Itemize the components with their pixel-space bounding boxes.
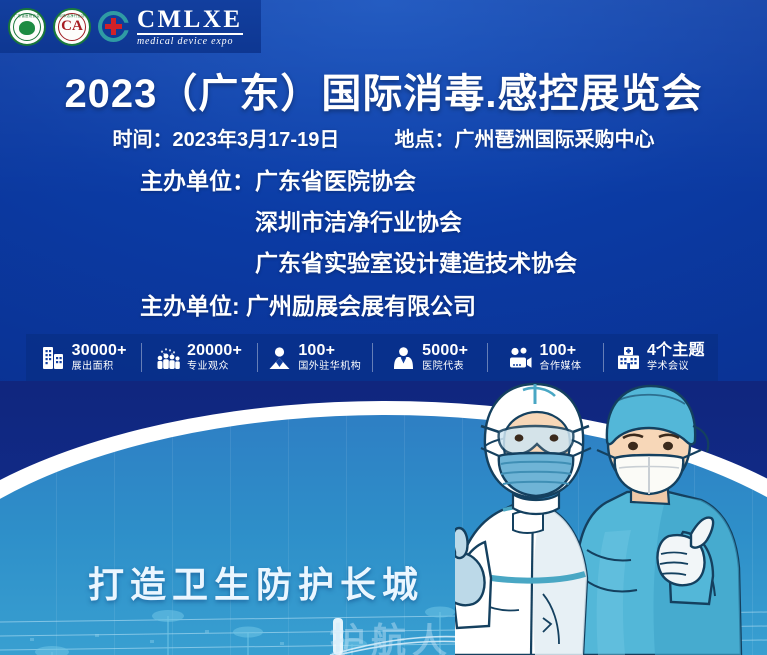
stat-item-exhibit-area: 30000+ 展出面积	[26, 334, 141, 381]
seal-monogram: CA	[61, 19, 83, 34]
seal-micro-text: 深圳市洁净行业协会	[55, 13, 89, 18]
brand-name: CMLXE	[137, 7, 243, 35]
stat-label: 合作媒体	[539, 362, 581, 372]
exhibition-poster: 广东省医院协会 深圳市洁净行业协会 CA CMLXE medical devic…	[0, 0, 767, 655]
scrubs-doctor-figure	[573, 386, 741, 655]
stat-text: 5000+ 医院代表	[422, 343, 468, 372]
brand-tagline: medical device expo	[137, 37, 243, 47]
stat-text: 100+ 国外驻华机构	[298, 343, 361, 372]
stat-text: 100+ 合作媒体	[539, 343, 581, 372]
building-icon	[41, 344, 66, 371]
event-venue: 地点：广州琶洲国际采购中心	[394, 129, 654, 151]
stat-label: 展出面积	[72, 362, 127, 372]
stat-number: 20000+	[187, 343, 242, 359]
hospital-association-seal: 广东省医院协会	[8, 8, 46, 46]
organizer-line-1: 主办单位：广东省医院协会	[0, 170, 767, 193]
stat-item-visitors: 20000+ 专业观众	[141, 334, 256, 381]
brand-lockup: CMLXE medical device expo	[137, 7, 243, 47]
hospital-icon	[616, 344, 641, 371]
stat-number: 5000+	[422, 343, 468, 359]
stat-text: 30000+ 展出面积	[72, 343, 127, 372]
stat-number: 4个主题	[647, 343, 705, 359]
organizer-line-2: 深圳市洁净行业协会	[0, 211, 767, 234]
stat-number: 30000+	[72, 343, 127, 359]
person-suit-icon	[267, 344, 292, 371]
event-date: 时间：2023年3月17-19日	[113, 129, 340, 151]
stat-text: 4个主题 学术会议	[647, 343, 705, 372]
stat-item-foreign-orgs: 100+ 国外驻华机构	[257, 334, 372, 381]
organizer-line-3: 广东省实验室设计建造技术协会	[0, 252, 767, 275]
crowd-icon	[156, 344, 181, 371]
stat-text: 20000+ 专业观众	[187, 343, 242, 372]
seal-micro-text: 广东省医院协会	[10, 13, 44, 18]
ppe-worker-figure	[455, 384, 591, 655]
organizer-line-4: 主办单位: 广州励展会展有限公司	[0, 295, 767, 318]
stat-label: 医院代表	[422, 362, 468, 372]
stat-label: 专业观众	[187, 362, 242, 372]
stat-item-conference-themes: 4个主题 学术会议	[603, 334, 718, 381]
slogan-primary: 打造卫生防护长城	[88, 556, 424, 608]
stat-label: 学术会议	[647, 362, 705, 372]
cleanroom-association-seal: 深圳市洁净行业协会 CA	[53, 8, 91, 46]
doctor-icon	[391, 344, 416, 371]
page-title: 2023（广东）国际消毒.感控展览会	[0, 61, 767, 119]
stat-number: 100+	[298, 343, 361, 359]
medical-workers-illustration	[455, 382, 767, 655]
g-cross-icon	[98, 11, 129, 42]
stat-item-media: 100+ 合作媒体	[487, 334, 602, 381]
stat-label: 国外驻华机构	[298, 362, 361, 372]
statistics-bar: 30000+ 展出面积 20000+ 专业观众	[26, 334, 718, 381]
organizer-block: 主办单位：广东省医院协会 深圳市洁净行业协会 广东省实验室设计建造技术协会 主办…	[0, 170, 767, 318]
video-camera-icon	[508, 344, 533, 371]
date-venue-line: 时间：2023年3月17-19日 地点：广州琶洲国际采购中心	[0, 123, 767, 152]
stat-item-hospital-reps: 5000+ 医院代表	[372, 334, 487, 381]
red-cross-vertical	[111, 18, 116, 35]
logo-bar: 广东省医院协会 深圳市洁净行业协会 CA CMLXE medical devic…	[0, 0, 261, 53]
stat-number: 100+	[539, 343, 581, 359]
